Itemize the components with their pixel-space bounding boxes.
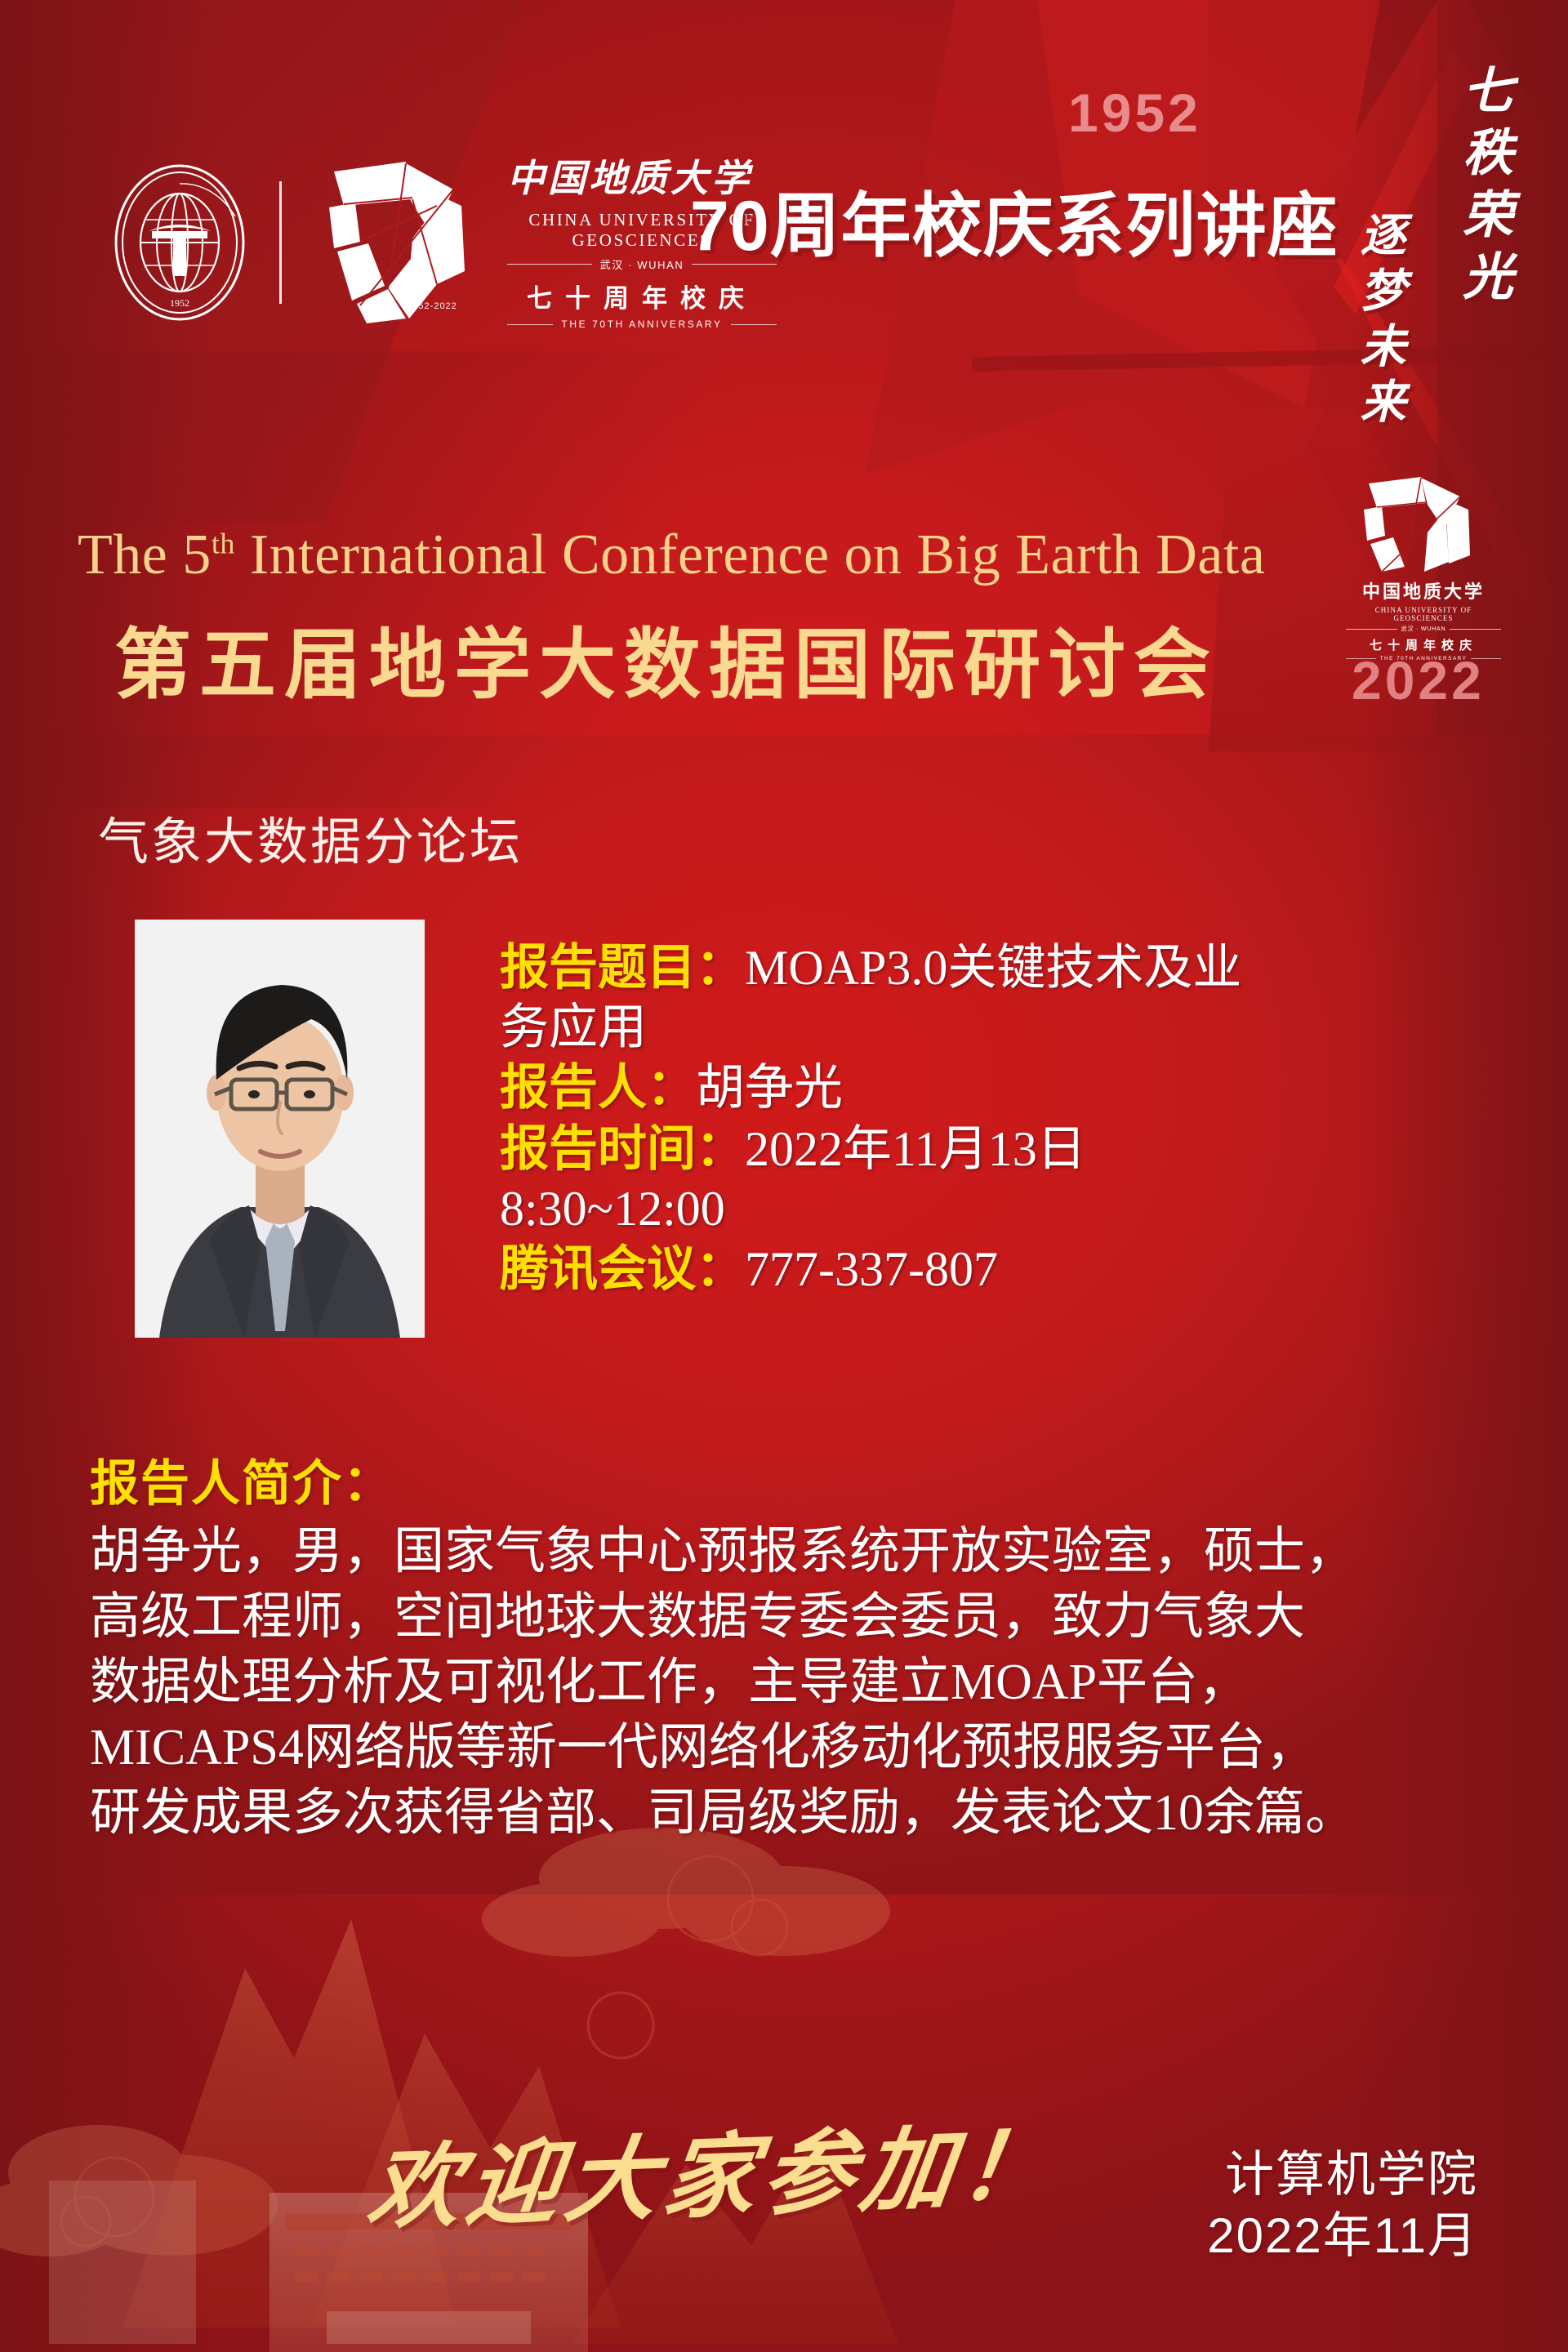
speaker-portrait-image	[135, 920, 425, 1338]
university-name-cn-small: 中国地质大学	[1346, 577, 1501, 604]
campus-rule-small: 武汉 · WUHAN	[1346, 625, 1501, 633]
lecture-series-title: 70周年校庆系列讲座	[690, 168, 1339, 270]
talk-date-value: 2022年11月13日	[745, 1122, 1086, 1176]
bg-facet-bar	[972, 345, 1568, 372]
talk-time-label: 报告时间：	[500, 1121, 745, 1176]
anniversary-cn: 七十周年校庆	[507, 278, 777, 314]
brand-divider	[279, 181, 282, 304]
campus-label-small: 武汉 · WUHAN	[1401, 625, 1446, 633]
talk-time-value: 8:30~12:00	[500, 1182, 725, 1236]
poster-root: 1952 1952-2022	[0, 0, 1568, 2352]
campus-mountains-clouds-illustration	[0, 1821, 898, 2352]
secondary-anniversary-logo: 1952-2022 中国地质大学 CHINA UNIVERSITY OF GEO…	[1346, 474, 1501, 661]
anniversary-70-mark-icon: 1952-2022	[310, 157, 497, 328]
bio-title: 报告人简介：	[90, 1444, 1511, 1515]
svg-text:1952: 1952	[170, 297, 189, 309]
bio-line: 高级工程师，空间地球大数据专委会委员，致力气象大	[90, 1585, 1511, 1650]
footer-organization: 计算机学院 2022年11月	[1207, 2144, 1478, 2266]
bio-line: 数据处理分析及可视化工作，主导建立MOAP平台，	[90, 1650, 1511, 1716]
speaker-info-row: 报告时间：2022年11月13日	[500, 1119, 1463, 1179]
speaker-portrait	[135, 920, 425, 1338]
bio-line: 研发成果多次获得省部、司局级奖励，发表论文10余篇。	[90, 1781, 1511, 1846]
calligraphy-qizhi-rongguang: 七秩荣光	[1445, 64, 1519, 312]
anniversary-rule-small: THE 70TH ANNIVERSARY	[1346, 656, 1501, 661]
campus-label: 武汉 · WUHAN	[600, 256, 684, 272]
bio-line: MICAPS4网络版等新一代网络化移动化预报服务平台，	[90, 1716, 1511, 1781]
conference-title-en: The 5th International Conference on Big …	[78, 523, 1265, 588]
conference-title-en-rest: International Conference on Big Earth Da…	[235, 523, 1266, 586]
conference-title-en-prefix: The 5	[78, 523, 212, 586]
talk-title-value-cont: 务应用	[500, 1000, 647, 1054]
anniversary-70-mark-small-icon: 1952-2022	[1346, 474, 1501, 572]
university-name-en-small: CHINA UNIVERSITY OF GEOSCIENCES	[1346, 606, 1501, 622]
speaker-name-label: 报告人：	[500, 1060, 696, 1115]
year-start-label: 1952	[1068, 82, 1201, 144]
anniversary-rule: THE 70TH ANNIVERSARY	[507, 318, 777, 330]
anniversary-cn-small: 七十周年校庆	[1346, 636, 1501, 653]
university-seal-icon: 1952	[98, 161, 261, 324]
forum-name: 气象大数据分论坛	[98, 800, 523, 874]
speaker-info-row: 报告题目：MOAP3.0关键技术及业	[500, 938, 1463, 998]
header-branding: 1952 1952-2022	[98, 155, 777, 330]
mark-years: 1952-2022	[407, 301, 457, 311]
anniversary-en: THE 70TH ANNIVERSARY	[561, 318, 722, 330]
conference-title-ordinal: th	[212, 528, 235, 560]
speaker-bio: 报告人简介： 胡争光，男，国家气象中心预报系统开放实验室，硕士， 高级工程师，空…	[90, 1444, 1511, 1846]
meeting-id-value: 777-337-807	[745, 1242, 998, 1296]
organizer-name: 计算机学院	[1207, 2144, 1478, 2205]
speaker-info: 报告题目：MOAP3.0关键技术及业 务应用 报告人：胡争光 报告时间：2022…	[500, 938, 1463, 1299]
publish-date: 2022年11月	[1207, 2205, 1478, 2266]
speaker-info-row: 报告人：胡争光	[500, 1058, 1463, 1118]
conference-title-cn: 第五届地学大数据国际研讨会	[114, 603, 1218, 714]
bio-line: 胡争光，男，国家气象中心预报系统开放实验室，硕士，	[90, 1520, 1511, 1585]
talk-title-label: 报告题目：	[500, 940, 745, 995]
anniversary-en-small: THE 70TH ANNIVERSARY	[1380, 656, 1468, 661]
welcome-message: 欢迎大家参加！	[362, 2091, 1067, 2247]
meeting-label: 腾讯会议：	[500, 1241, 745, 1296]
speaker-info-row: 腾讯会议：777-337-807	[500, 1239, 1463, 1299]
speaker-info-row: 8:30~12:00	[500, 1179, 1463, 1239]
speaker-name-value: 胡争光	[696, 1061, 843, 1115]
talk-title-value: MOAP3.0关键技术及业	[745, 941, 1241, 995]
calligraphy-zhumeng-weilai: 逐梦未来	[1346, 211, 1412, 433]
speaker-info-row: 务应用	[500, 998, 1463, 1058]
mark-years-small: 1952-2022	[1427, 553, 1459, 560]
